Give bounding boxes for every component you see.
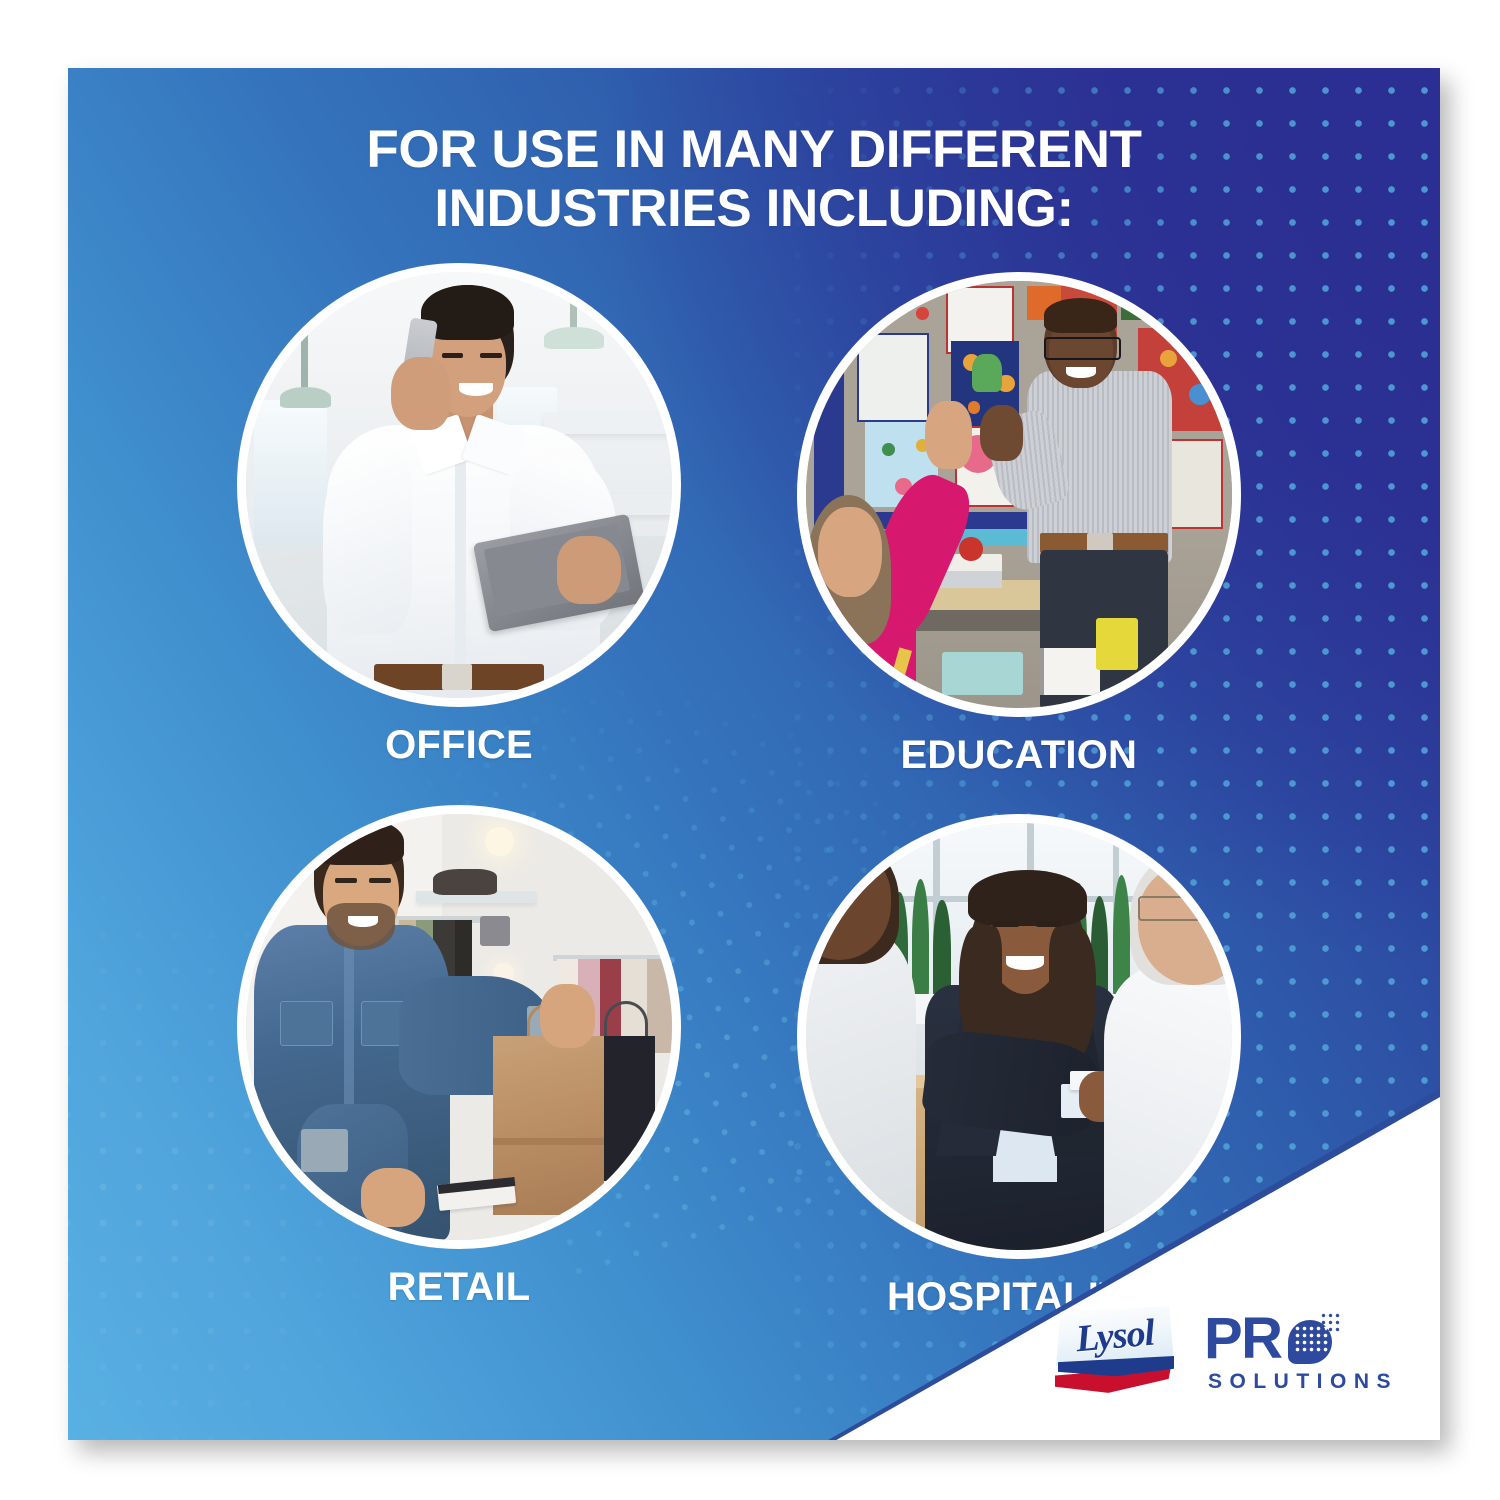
industry-tile-retail: RETAIL bbox=[237, 805, 682, 1311]
industry-label-retail: RETAIL bbox=[237, 1265, 682, 1310]
lysol-logo: Lysol bbox=[1052, 1300, 1178, 1404]
photo-hospitality bbox=[806, 823, 1233, 1250]
photo-circle-hospitality bbox=[797, 814, 1242, 1259]
industry-label-education: EDUCATION bbox=[797, 733, 1242, 778]
photo-circle-education bbox=[797, 272, 1242, 717]
pro-wordmark-row: PR bbox=[1204, 1311, 1398, 1368]
industry-label-office: OFFICE bbox=[237, 723, 682, 768]
photo-education bbox=[806, 281, 1233, 708]
pro-droplet-o-icon bbox=[1284, 1314, 1338, 1368]
photo-circle-office bbox=[237, 263, 682, 708]
pro-solutions-logo: PR SOLUTIONS bbox=[1204, 1311, 1398, 1394]
pro-solutions-subtitle: SOLUTIONS bbox=[1208, 1370, 1398, 1394]
pro-wordmark: PR bbox=[1204, 1311, 1282, 1366]
screenshot-canvas: FOR USE IN MANY DIFFERENT INDUSTRIES INC… bbox=[0, 0, 1500, 1500]
photo-retail bbox=[246, 814, 673, 1241]
industry-tile-office: OFFICE bbox=[237, 263, 682, 769]
industry-tile-education: EDUCATION bbox=[797, 272, 1242, 778]
brand-logo-lockup: Lysol PR SOLUTIONS bbox=[1052, 1300, 1398, 1404]
photo-circle-retail bbox=[237, 805, 682, 1250]
marketing-poster: FOR USE IN MANY DIFFERENT INDUSTRIES INC… bbox=[68, 68, 1440, 1440]
photo-office bbox=[246, 272, 673, 699]
